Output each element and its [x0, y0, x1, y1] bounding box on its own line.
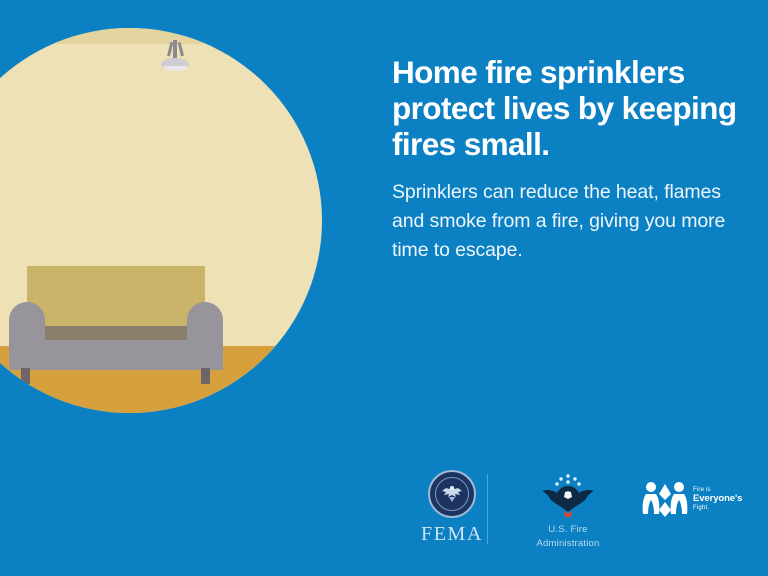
- headline: Home fire sprinklers protect lives by ke…: [392, 54, 742, 162]
- sprinkler-arm-right: [178, 42, 184, 56]
- fef-line2: Everyone's: [693, 494, 742, 504]
- fef-line3: Fight.: [693, 505, 742, 511]
- couch-illustration: [5, 266, 227, 386]
- eagle-icon: [439, 484, 465, 504]
- poster-canvas: Home fire sprinklers protect lives by ke…: [0, 0, 768, 576]
- usfa-wordmark-line2: Administration: [508, 538, 628, 550]
- dhs-seal-icon: [428, 470, 476, 518]
- logo-divider: [487, 474, 488, 544]
- usfa-logo: U.S. Fire Administration: [508, 470, 628, 549]
- couch-leg-left: [21, 368, 30, 384]
- logo-bar: FEMA U.S. Fi: [390, 466, 760, 556]
- sprinkler-head-icon: [154, 40, 196, 76]
- fema-wordmark: FEMA: [396, 523, 508, 545]
- usfa-wordmark-line1: U.S. Fire: [508, 524, 628, 536]
- subheadline: Sprinklers can reduce the heat, flames a…: [392, 178, 742, 265]
- sprinkler-deflector: [164, 66, 187, 71]
- people-figures-icon: [642, 480, 688, 518]
- fef-wordmark: Fire is Everyone's Fight.: [693, 487, 742, 511]
- sprinkler-stem: [173, 40, 177, 60]
- couch-backrest: [27, 266, 205, 328]
- message-block: Home fire sprinklers protect lives by ke…: [392, 54, 742, 265]
- illustration-circle: [0, 28, 322, 413]
- fema-logo: FEMA: [396, 470, 508, 545]
- fire-is-everyones-fight-logo: Fire is Everyone's Fight.: [642, 480, 767, 518]
- usfa-eagle-icon: [537, 470, 599, 522]
- couch-leg-right: [201, 368, 210, 384]
- couch-base: [9, 340, 223, 370]
